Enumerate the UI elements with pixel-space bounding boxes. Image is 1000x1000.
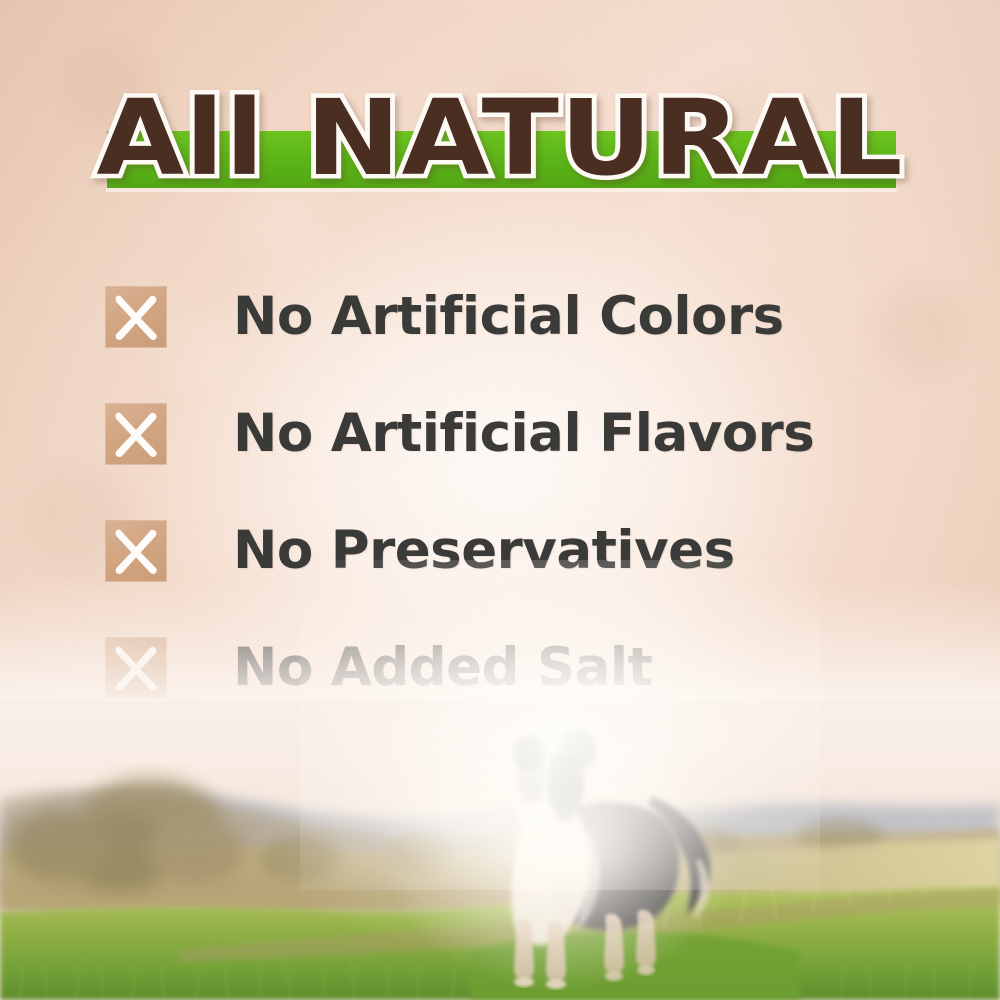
x-mark-icon <box>106 638 166 698</box>
list-item: No Artificial Colors <box>0 258 1000 375</box>
page-title: All NATURAL <box>0 78 1000 198</box>
list-item-label: No Preservatives <box>233 524 735 577</box>
list-item-label: No Added Salt <box>233 641 652 694</box>
x-mark-icon <box>106 404 166 464</box>
product-feature-graphic: All NATURAL No Artificial Colors No Arti… <box>0 0 1000 1000</box>
headline-block: All NATURAL <box>0 78 1000 198</box>
x-mark-icon <box>106 521 166 581</box>
list-item: No Artificial Flavors <box>0 375 1000 492</box>
x-mark-icon <box>106 287 166 347</box>
lifestyle-photo <box>0 700 1000 1000</box>
list-item-label: No Artificial Flavors <box>233 407 814 460</box>
claims-list: No Artificial Colors No Artificial Flavo… <box>0 258 1000 726</box>
list-item-label: No Artificial Colors <box>233 290 784 343</box>
list-item: No Preservatives <box>0 492 1000 609</box>
